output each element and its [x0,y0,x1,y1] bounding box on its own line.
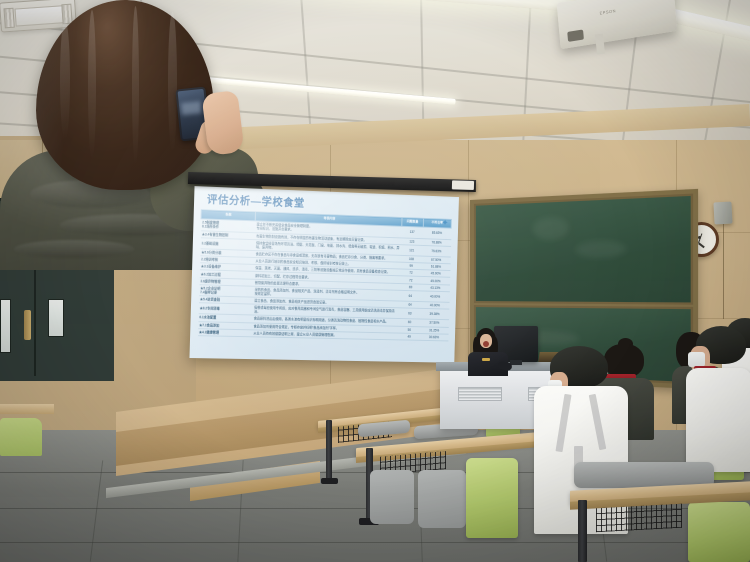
sparkle-icon: ✦ [441,218,451,228]
chalkboard-upper-panel [474,194,693,305]
auditorium-seat-pan[interactable] [418,470,466,528]
table-cell-count: 63 [399,308,421,319]
projector-lens [567,29,584,41]
wall-mounted-speaker [713,202,732,225]
projection-screen: 评估分析—学校食堂 ✦ 条款 考核内容 问题数量 不符合率 2.5制度管理8.1… [189,186,459,363]
table-cell-rate: 39.38% [420,309,449,321]
presenter-badge [482,358,490,361]
table-cell-rate: 40.00% [421,291,449,303]
auditorium-seat-green[interactable] [0,418,42,456]
ceiling-light-strip [172,0,602,14]
slide-data-table: 条款 考核内容 问题数量 不符合率 2.5制度管理8.1场所条件建立并不断完善健… [197,209,452,341]
table-cell-rate: 30.63% [420,333,448,341]
attendee-white-coat [686,368,750,472]
desk-storage-basket [596,504,682,533]
table-cell-count: 137 [401,227,423,239]
desk-leg [578,500,587,562]
table-cell-count: 49 [398,333,420,340]
table-cell-count: 121 [401,244,423,256]
speaker-wire [723,224,724,319]
attendee-white-coat-right [690,326,750,476]
presenter-mouth [483,341,489,347]
table-cell-clause: ★4.1健康管理 [198,328,253,336]
auditorium-seat-green[interactable] [688,502,750,562]
auditorium-seat-green[interactable] [466,458,518,538]
screen-housing-end-cap [452,180,474,190]
table-cell-count: 64 [399,290,421,301]
door-handle[interactable] [24,310,31,340]
desk-leg [326,420,332,480]
door-glass-panel [48,299,64,337]
projector-brand-label: EPSON [599,8,616,16]
phone-screen-glare [181,101,202,115]
desk-foot [321,478,338,484]
ceiling-light-strip [206,77,456,105]
attendee-face-mask [688,352,705,367]
classroom-photo: EPSON [0,0,750,562]
presentation-slide: 评估分析—学校食堂 ✦ 条款 考核内容 问题数量 不符合率 2.5制度管理8.1… [189,186,459,363]
presenter-at-podium [468,328,510,374]
door-glass-panel [0,299,11,353]
lecture-desk [0,404,54,414]
auditorium-seat-pan[interactable] [370,470,414,524]
